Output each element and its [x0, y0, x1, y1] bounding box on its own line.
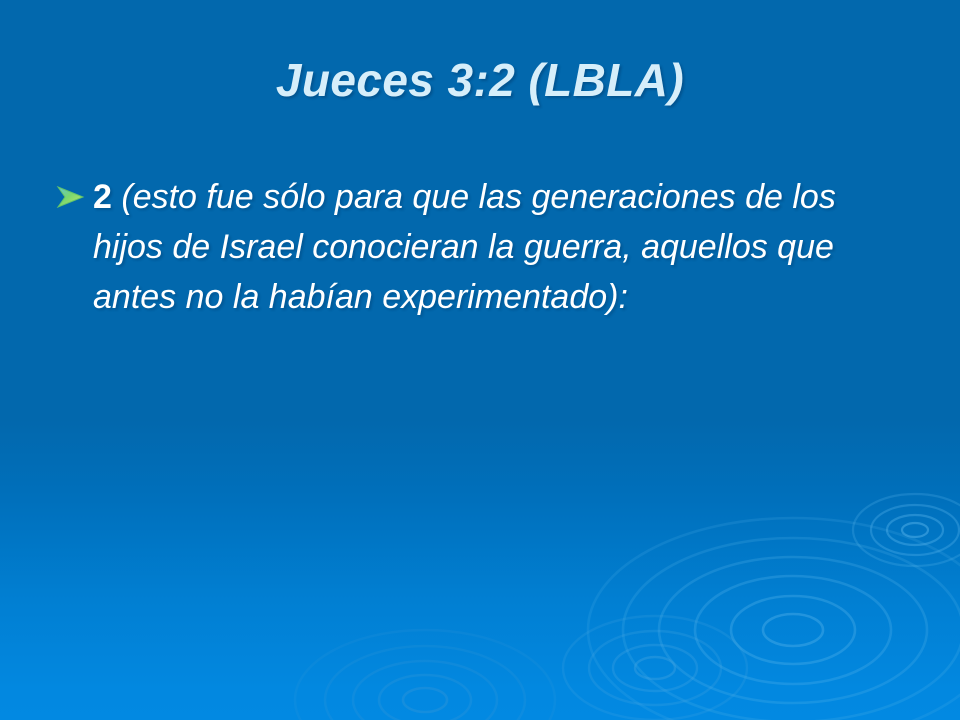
- slide-title: Jueces 3:2 (LBLA): [0, 52, 960, 108]
- arrow-head-right-icon: [56, 186, 86, 208]
- slide-body: 2 (esto fue sólo para que las generacion…: [52, 172, 932, 322]
- slide-background: [0, 0, 960, 720]
- bullet-list-item: 2 (esto fue sólo para que las generacion…: [52, 172, 932, 322]
- bullet-item-text: 2 (esto fue sólo para que las generacion…: [93, 172, 913, 322]
- presentation-slide: Jueces 3:2 (LBLA) 2 (esto fue sólo para …: [0, 0, 960, 720]
- verse-number: 2: [93, 178, 112, 216]
- verse-text: (esto fue sólo para que las generaciones…: [93, 178, 836, 316]
